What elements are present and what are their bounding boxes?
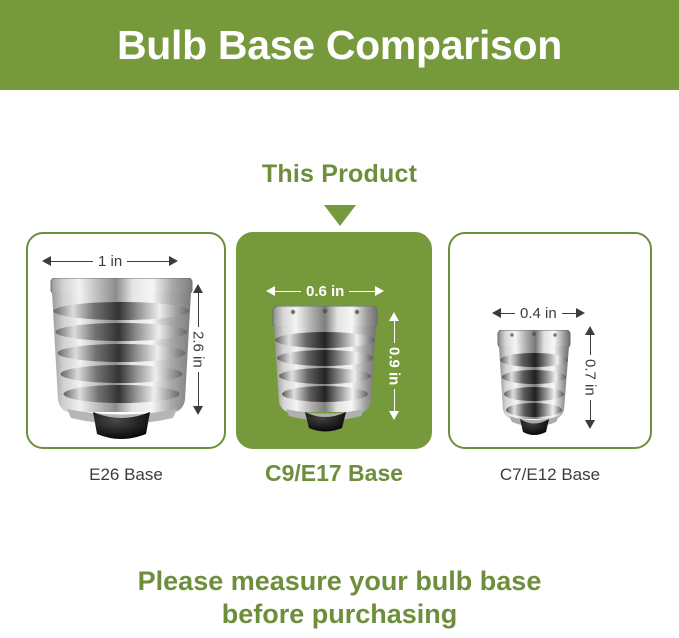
dimension-line — [127, 261, 169, 262]
header-banner: Bulb Base Comparison — [0, 0, 679, 90]
footer-line-1: Please measure your bulb base — [0, 565, 679, 598]
comparison-card-c7-e12[interactable]: 0.4 in — [448, 232, 652, 449]
arrow-down-icon — [193, 406, 203, 415]
comparison-card-c9-e17[interactable]: 0.6 in — [236, 232, 432, 449]
height-value-c9-e17: 0.9 in — [387, 343, 402, 389]
width-dimension-c9-e17: 0.6 in — [266, 282, 408, 300]
bulb-base-comparison-infographic: Bulb Base Comparison This Product 1 in — [0, 0, 679, 638]
arrow-up-icon — [585, 326, 595, 335]
footer-note: Please measure your bulb base before pur… — [0, 565, 679, 631]
dimension-line — [394, 389, 395, 411]
height-dimension-e26: 2.6 in — [188, 284, 208, 436]
dimension-line — [590, 335, 591, 355]
screw-base-c7-e12-icon — [496, 330, 572, 438]
arrow-left-icon — [266, 286, 275, 296]
height-dimension-c9-e17: 0.9 in — [384, 312, 404, 432]
arrow-left-icon — [492, 308, 501, 318]
width-value-c7-e12: 0.4 in — [515, 306, 562, 321]
height-dimension-c7-e12: 0.7 in — [580, 326, 600, 436]
screw-base-c9-e17-icon — [271, 306, 379, 434]
width-dimension-e26: 1 in — [42, 252, 214, 270]
comparison-card-e26[interactable]: 1 in — [26, 232, 226, 449]
card-label-e26: E26 Base — [26, 466, 226, 483]
width-dimension-c7-e12: 0.4 in — [492, 304, 608, 322]
comparison-cards-row: 1 in — [0, 232, 679, 450]
dimension-line — [275, 291, 301, 292]
arrow-right-icon — [169, 256, 178, 266]
dimension-line — [198, 372, 199, 406]
screw-base-e26-icon — [49, 278, 194, 443]
arrow-up-icon — [193, 284, 203, 293]
this-product-label: This Product — [262, 162, 417, 187]
arrow-right-icon — [576, 308, 585, 318]
arrow-right-icon — [375, 286, 384, 296]
arrow-down-icon — [585, 420, 595, 429]
this-product-callout: This Product — [0, 162, 679, 187]
card-label-c9-e17: C9/E17 Base — [236, 462, 432, 485]
width-value-e26: 1 in — [93, 254, 127, 269]
card-label-c7-e12: C7/E12 Base — [448, 466, 652, 483]
page-title: Bulb Base Comparison — [117, 25, 562, 66]
dimension-line — [590, 400, 591, 420]
dimension-line — [51, 261, 93, 262]
dimension-line — [501, 313, 515, 314]
dimension-line — [349, 291, 375, 292]
card-labels-row: E26 Base C9/E17 Base C7/E12 Base — [0, 466, 679, 496]
arrow-left-icon — [42, 256, 51, 266]
height-value-e26: 2.6 in — [191, 327, 206, 372]
arrow-up-icon — [389, 312, 399, 321]
dimension-line — [198, 293, 199, 327]
dimension-line — [394, 321, 395, 343]
footer-line-2: before purchasing — [0, 598, 679, 631]
height-value-c7-e12: 0.7 in — [583, 355, 598, 400]
arrow-down-icon — [389, 411, 399, 420]
dimension-line — [562, 313, 576, 314]
triangle-down-icon — [324, 205, 356, 226]
width-value-c9-e17: 0.6 in — [301, 284, 349, 299]
